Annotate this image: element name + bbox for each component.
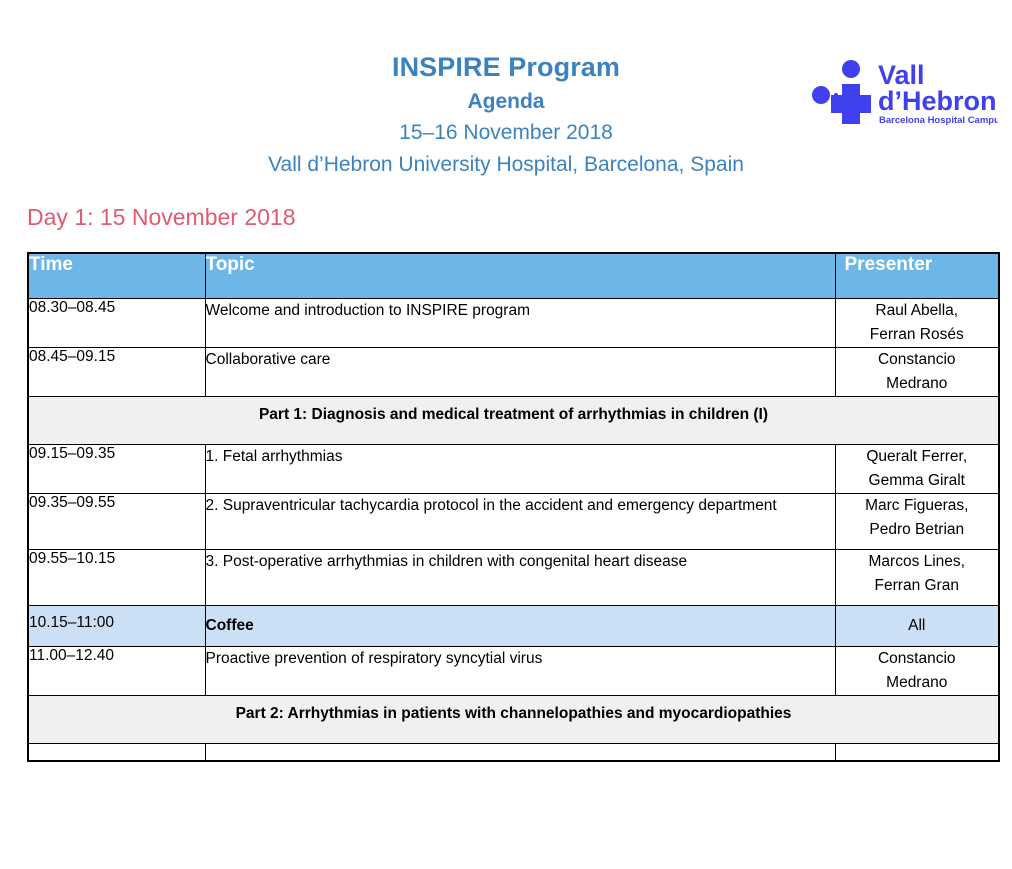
logo-line2: d’Hebron: [878, 86, 997, 116]
column-header-topic: Topic: [205, 253, 835, 299]
cell-topic: Collaborative care: [205, 348, 835, 397]
cell-topic: Welcome and introduction to INSPIRE prog…: [205, 299, 835, 348]
cell-time: 09.55–10.15: [28, 550, 205, 606]
presenter-name: Medrano: [886, 375, 947, 392]
presenter-name: Constancio: [878, 650, 956, 667]
presenter-name: Gemma Giralt: [869, 472, 965, 489]
cell-topic: Coffee: [205, 606, 835, 647]
table-header-row: Time Topic Presenter: [28, 253, 999, 299]
cell-presenter: ConstancioMedrano: [835, 348, 999, 397]
section-header-row: Part 2: Arrhythmias in patients with cha…: [28, 696, 999, 744]
presenter-name: Ferran Gran: [875, 577, 959, 594]
cell-time: [28, 744, 205, 762]
presenter-name: Constancio: [878, 351, 956, 368]
cell-topic: Proactive prevention of respiratory sync…: [205, 647, 835, 696]
cell-time: 08.30–08.45: [28, 299, 205, 348]
cell-presenter: Marc Figueras,Pedro Betrian: [835, 494, 999, 550]
agenda-table: Time Topic Presenter 08.30–08.45Welcome …: [27, 252, 1000, 762]
cell-time: 08.45–09.15: [28, 348, 205, 397]
presenter-name: Medrano: [886, 674, 947, 691]
break-row: 10.15–11:00CoffeeAll: [28, 606, 999, 647]
cell-topic: 3. Post-operative arrhythmias in childre…: [205, 550, 835, 606]
agenda-page: INSPIRE Program Agenda 15–16 November 20…: [0, 0, 1012, 869]
table-row: 11.00–12.40Proactive prevention of respi…: [28, 647, 999, 696]
cell-presenter: Raul Abella,Ferran Rosés: [835, 299, 999, 348]
presenter-name: Marc Figueras,: [865, 497, 968, 514]
section-header-row: Part 1: Diagnosis and medical treatment …: [28, 397, 999, 445]
table-row: 08.30–08.45Welcome and introduction to I…: [28, 299, 999, 348]
vall-hebron-logo-icon: Vall d’Hebron Barcelona Hospital Campus: [812, 57, 998, 127]
vall-hebron-logo: Vall d’Hebron Barcelona Hospital Campus: [812, 57, 998, 127]
cell-time: 11.00–12.40: [28, 647, 205, 696]
cell-presenter: All: [835, 606, 999, 647]
cell-presenter: Marcos Lines,Ferran Gran: [835, 550, 999, 606]
presenter-name: Queralt Ferrer,: [866, 448, 967, 465]
column-header-presenter: Presenter: [835, 253, 999, 299]
table-row: 08.45–09.15Collaborative careConstancioM…: [28, 348, 999, 397]
agenda-table-head: Time Topic Presenter: [28, 253, 999, 299]
presenter-name: Marcos Lines,: [869, 553, 965, 570]
cell-presenter: Queralt Ferrer,Gemma Giralt: [835, 445, 999, 494]
agenda-table-body: 08.30–08.45Welcome and introduction to I…: [28, 299, 999, 762]
column-header-time: Time: [28, 253, 205, 299]
event-venue: Vall d’Hebron University Hospital, Barce…: [0, 149, 1012, 181]
cell-time: 09.35–09.55: [28, 494, 205, 550]
table-row: 09.35–09.552. Supraventricular tachycard…: [28, 494, 999, 550]
cell-presenter: ConstancioMedrano: [835, 647, 999, 696]
document-header: INSPIRE Program Agenda 15–16 November 20…: [0, 0, 1012, 181]
cell-topic: [205, 744, 835, 762]
cell-time: 09.15–09.35: [28, 445, 205, 494]
cell-topic: 2. Supraventricular tachycardia protocol…: [205, 494, 835, 550]
table-row: [28, 744, 999, 762]
cell-topic: 1. Fetal arrhythmias: [205, 445, 835, 494]
section-header-label: Part 1: Diagnosis and medical treatment …: [28, 397, 999, 445]
cell-time: 10.15–11:00: [28, 606, 205, 647]
presenter-name: Raul Abella,: [875, 302, 958, 319]
table-row: 09.15–09.351. Fetal arrhythmiasQueralt F…: [28, 445, 999, 494]
agenda-table-wrap: Time Topic Presenter 08.30–08.45Welcome …: [27, 252, 998, 762]
section-header-label: Part 2: Arrhythmias in patients with cha…: [28, 696, 999, 744]
cell-presenter: [835, 744, 999, 762]
presenter-name: Pedro Betrian: [869, 521, 964, 538]
day-heading: Day 1: 15 November 2018: [27, 203, 1012, 231]
table-row: 09.55–10.153. Post-operative arrhythmias…: [28, 550, 999, 606]
presenter-name: Ferran Rosés: [870, 326, 964, 343]
presenter-name: All: [908, 617, 925, 634]
logo-tagline: Barcelona Hospital Campus: [879, 115, 998, 126]
